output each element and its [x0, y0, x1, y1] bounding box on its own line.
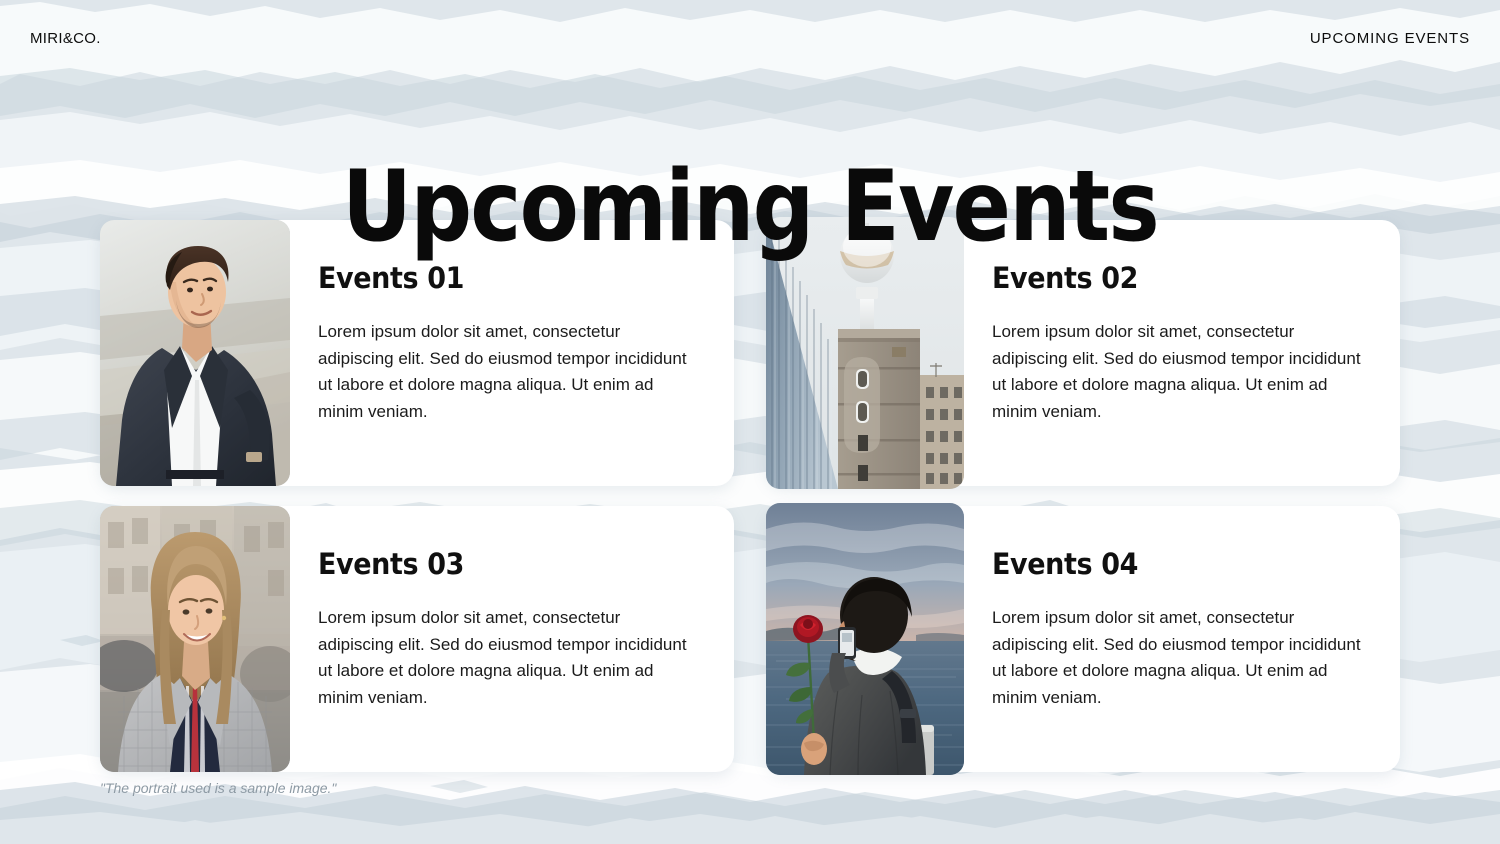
events-grid: Events 01 Lorem ipsum dolor sit amet, co… — [100, 220, 1400, 772]
event-card-3[interactable]: Events 03 Lorem ipsum dolor sit amet, co… — [100, 506, 734, 772]
section-label: UPCOMING EVENTS — [1310, 30, 1470, 47]
event-text-1: Lorem ipsum dolor sit amet, consectetur … — [318, 319, 690, 425]
page-title: Upcoming Events — [90, 158, 1410, 256]
event-title-3: Events 03 — [318, 550, 681, 579]
event-image-1 — [100, 220, 290, 486]
footer-disclaimer: "The portrait used is a sample image." — [100, 780, 336, 796]
event-content-2: Events 02 Lorem ipsum dolor sit amet, co… — [992, 264, 1382, 425]
event-image-4 — [766, 503, 964, 775]
event-content-3: Events 03 Lorem ipsum dolor sit amet, co… — [318, 550, 708, 711]
event-text-2: Lorem ipsum dolor sit amet, consectetur … — [992, 319, 1364, 425]
slide-header: MIRI&CO. UPCOMING EVENTS — [0, 30, 1500, 60]
slide-canvas: MIRI&CO. UPCOMING EVENTS Upcoming Events — [0, 0, 1500, 844]
event-image-3 — [100, 506, 290, 772]
event-title-1: Events 01 — [318, 264, 681, 293]
event-text-4: Lorem ipsum dolor sit amet, consectetur … — [992, 605, 1364, 711]
event-title-2: Events 02 — [992, 264, 1355, 293]
event-text-3: Lorem ipsum dolor sit amet, consectetur … — [318, 605, 690, 711]
events-row-2: Events 03 Lorem ipsum dolor sit amet, co… — [100, 506, 1400, 772]
event-content-1: Events 01 Lorem ipsum dolor sit amet, co… — [318, 264, 708, 425]
event-title-4: Events 04 — [992, 550, 1355, 579]
brand-logo: MIRI&CO. — [30, 30, 101, 47]
event-content-4: Events 04 Lorem ipsum dolor sit amet, co… — [992, 550, 1382, 711]
event-card-4[interactable]: Events 04 Lorem ipsum dolor sit amet, co… — [766, 506, 1400, 772]
